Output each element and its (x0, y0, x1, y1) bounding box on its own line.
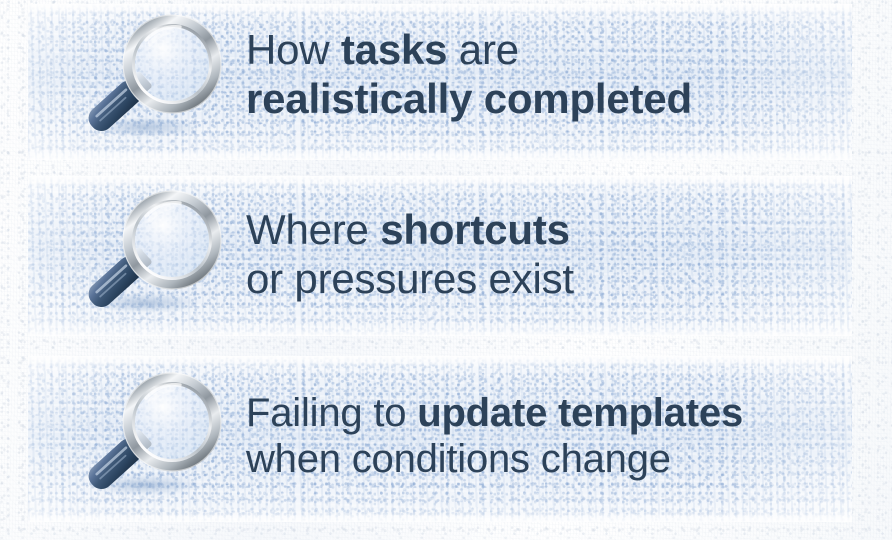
panel-2-line-1-seg-1: Where (246, 206, 380, 253)
panel-2-line-2: or pressures exist (246, 255, 574, 304)
magnifying-glass-icon (72, 186, 232, 328)
panel-3-line-2: when conditions change (246, 436, 743, 482)
panel-3-line-1: Failing to update templates (246, 390, 743, 436)
panel-1-line-2-seg-1: realistically completed (246, 75, 692, 122)
panel-3-line-2-seg-1: when conditions change (246, 437, 671, 481)
panel-3-line-1-seg-1: Failing to (246, 391, 417, 435)
panel-1-text: How tasks are realistically completed (246, 26, 692, 123)
panel-3-line-1-seg-2: update templates (417, 391, 743, 435)
panel-1-line-1-seg-2: tasks (341, 26, 447, 73)
slide-canvas: How tasks are realistically completed (0, 0, 892, 540)
panel-2-line-1: Where shortcuts (246, 206, 574, 255)
panel-1-line-1-seg-1: How (246, 26, 341, 73)
panel-2-line-1-seg-2: shortcuts (380, 206, 570, 253)
panel-3: Failing to update templates when conditi… (28, 356, 852, 522)
magnifying-glass-icon (72, 10, 232, 152)
panel-1-line-1: How tasks are (246, 26, 692, 75)
panel-1-line-2: realistically completed (246, 75, 692, 124)
panel-1-line-1-seg-3: are (447, 26, 519, 73)
panel-2-text: Where shortcuts or pressures exist (246, 206, 574, 303)
panel-2: Where shortcuts or pressures exist (28, 176, 852, 336)
magnifying-glass-icon (72, 368, 232, 510)
panel-3-text: Failing to update templates when conditi… (246, 390, 743, 483)
panel-1: How tasks are realistically completed (28, 4, 852, 160)
panel-2-line-2-seg-1: or pressures exist (246, 255, 574, 302)
